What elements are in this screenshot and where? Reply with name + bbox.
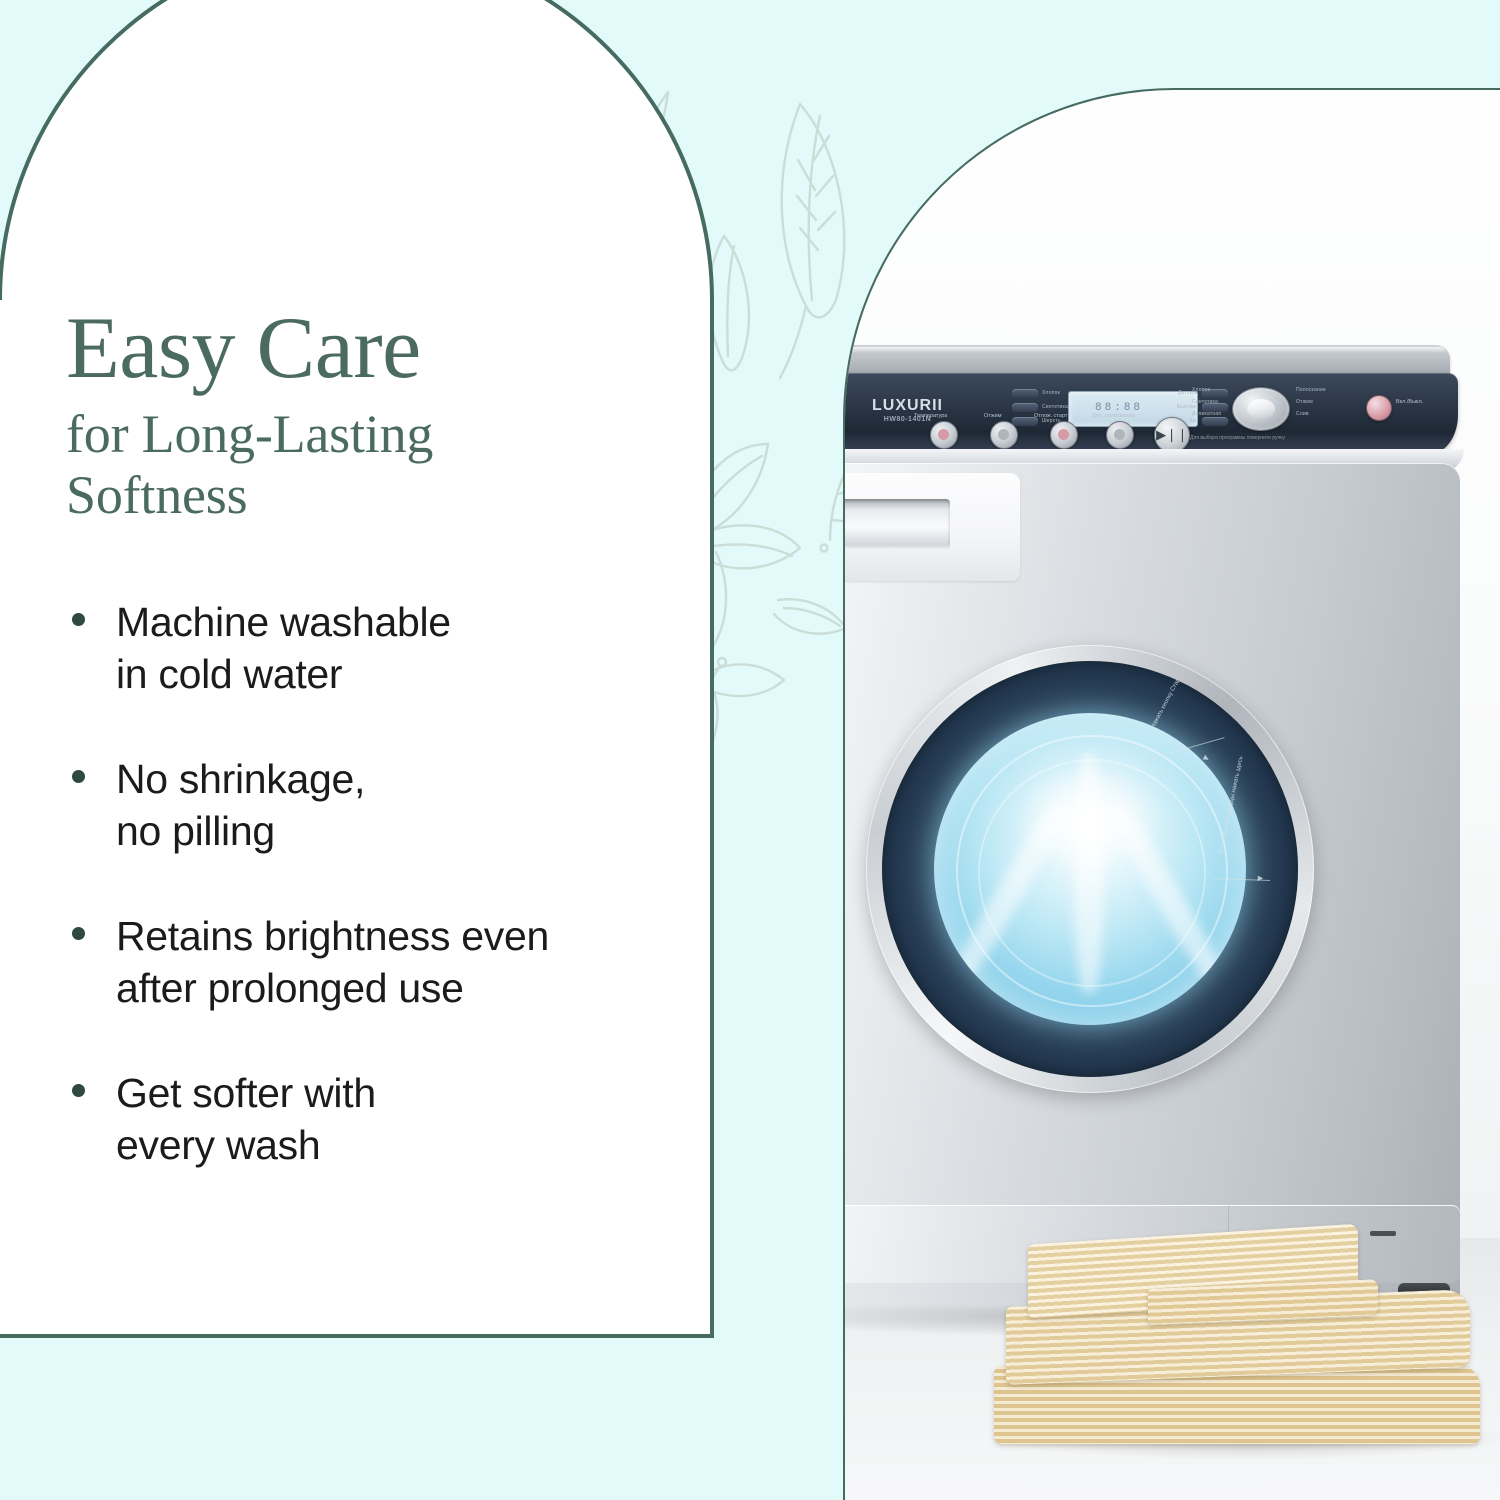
program-selector-dial[interactable] [1232,387,1290,431]
bullet-dot-icon [72,927,85,940]
program-pill-2[interactable] [1012,403,1038,412]
power-button[interactable] [1366,395,1392,421]
dial-label-2: Синтетика [1192,399,1218,405]
text-column: Easy Care for Long-Lasting Softness Mach… [0,0,712,1336]
control-panel: Haier LUXURII HW80-1401N Хлопок Синтетик… [762,373,1458,455]
start-pause-button[interactable]: ▶❘❘ [1154,417,1190,453]
option-label-spin: Отжим [984,413,1002,419]
dial-label-4: Полоскание [1296,387,1326,393]
dial-label-1: Хлопок [1192,387,1210,393]
door-instruction-top: Нажать кнопку Старт/Пауза для разблокиро… [1150,661,1233,731]
drum-inner-ring-2 [978,759,1206,987]
model-badge: LUXURII HW80-1401N [872,397,943,423]
program-pill-label-1: Хлопок [1042,390,1060,396]
dial-label-3: Деликатная [1192,411,1221,417]
headline-line-3: Softness [66,465,666,525]
list-item: No shrinkage, no pilling [60,753,710,858]
bullet-dot-icon [72,770,85,783]
option-button-extra-rinse[interactable] [1106,421,1134,449]
panel-fineprint: Для выбора программы поверните ручку [1190,435,1285,441]
list-item-label: Machine washable in cold water [116,596,710,701]
list-item: Retains brightness even after prolonged … [60,910,710,1015]
door-chrome-ring[interactable]: Нажать кнопку Старт/Пауза для разблокиро… [866,645,1314,1093]
option-button-delay-start[interactable] [1050,421,1078,449]
dial-label-5: Отжим [1296,399,1313,405]
program-pill-label-2: Синтетика [1042,404,1068,410]
headline-line-2: for Long-Lasting [66,404,666,464]
list-item: Machine washable in cold water [60,596,710,701]
feature-list: Machine washable in cold water No shrink… [60,596,710,1172]
bullet-dot-icon [72,1084,85,1097]
program-pill-1[interactable] [1012,389,1038,398]
dial-label-6: Слив [1296,411,1309,417]
option-label-extra-rinse: Доп. полоскание [1092,413,1135,419]
option-button-temperature[interactable] [930,421,958,449]
door-arrow-bottom-icon: ► [1256,873,1265,883]
bullet-dot-icon [72,613,85,626]
list-item-label: Retains brightness even after prolonged … [116,910,710,1015]
list-item-label: Get softer with every wash [116,1067,710,1172]
option-label-delay-start: Отлож. старт [1034,413,1067,419]
option-button-spin[interactable] [990,421,1018,449]
poster-canvas: Haier LUXURII HW80-1401N Хлопок Синтетик… [0,0,1500,1500]
washing-machine: Haier LUXURII HW80-1401N Хлопок Синтетик… [740,345,1460,1310]
option-label-temperature: Температура [914,413,947,419]
folded-sheets-stack [988,1228,1500,1458]
program-pill-6[interactable] [1202,417,1228,426]
headline-line-1: Easy Care [66,306,666,392]
list-item-label: No shrinkage, no pilling [116,753,710,858]
list-item: Get softer with every wash [60,1067,710,1172]
machine-body: Нажать кнопку Старт/Пауза для разблокиро… [758,463,1460,1303]
power-button-label: Вкл./Выкл. [1396,399,1423,405]
page-title: Easy Care for Long-Lasting Softness [66,306,666,525]
product-photo: Haier LUXURII HW80-1401N Хлопок Синтетик… [712,0,1500,1500]
door-glass-bezel: Нажать кнопку Старт/Пауза для разблокиро… [882,661,1298,1077]
